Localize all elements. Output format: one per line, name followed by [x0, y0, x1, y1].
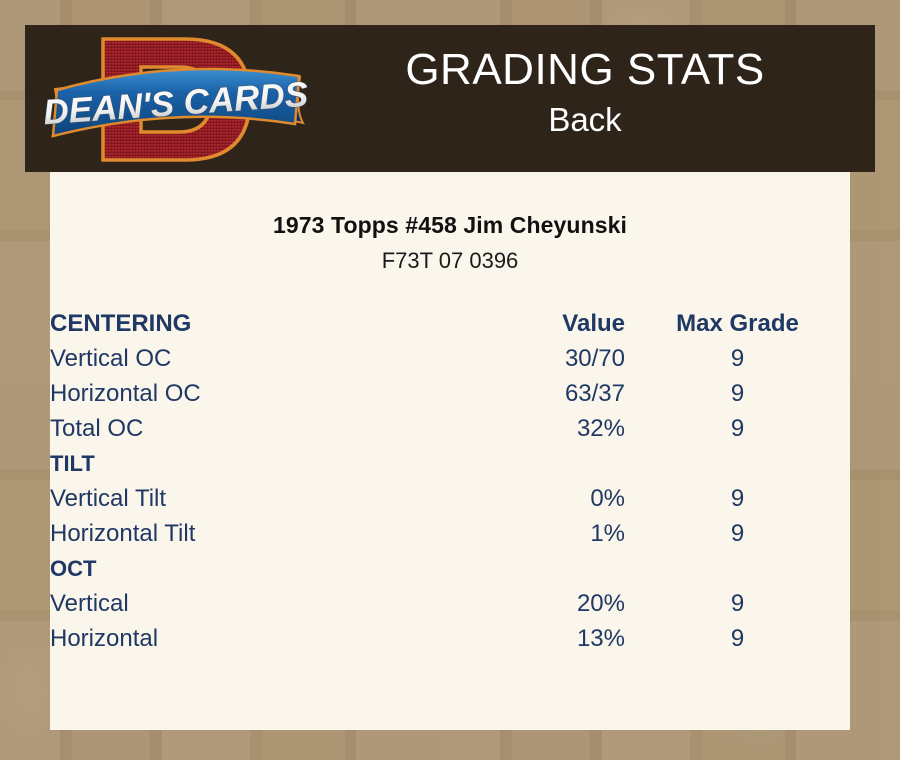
row-label: Vertical — [50, 586, 435, 621]
row-label: Horizontal — [50, 621, 435, 656]
section-value-spacer — [435, 551, 625, 586]
row-label: Total OC — [50, 411, 435, 446]
row-label: Horizontal OC — [50, 376, 435, 411]
grading-stats-body: CENTERING Value Max Grade Vertical OC 30… — [50, 306, 850, 656]
row-grade: 9 — [625, 376, 850, 411]
grading-stats-table: CENTERING Value Max Grade Vertical OC 30… — [50, 306, 850, 656]
table-row: Total OC 32% 9 — [50, 411, 850, 446]
row-grade: 9 — [625, 411, 850, 446]
row-grade: 9 — [625, 516, 850, 551]
table-row: Horizontal OC 63/37 9 — [50, 376, 850, 411]
deans-cards-logo[interactable]: DEAN'S CARDS — [45, 27, 310, 172]
row-grade: 9 — [625, 481, 850, 516]
page-subtitle: Back — [315, 99, 855, 141]
row-value: 1% — [435, 516, 625, 551]
row-value: 63/37 — [435, 376, 625, 411]
section-value-spacer — [435, 446, 625, 481]
section-header-oct: OCT — [50, 551, 850, 586]
row-grade: 9 — [625, 586, 850, 621]
card-serial-number: F73T 07 0396 — [50, 248, 850, 274]
card-title: 1973 Topps #458 Jim Cheyunski — [50, 212, 850, 239]
deans-cards-logo-icon: DEAN'S CARDS — [45, 27, 310, 172]
header-titles: GRADING STATS Back — [315, 43, 855, 141]
header-bar: DEAN'S CARDS GRADING STATS Back — [25, 25, 875, 172]
table-row: Vertical Tilt 0% 9 — [50, 481, 850, 516]
table-row: Horizontal Tilt 1% 9 — [50, 516, 850, 551]
section-label: TILT — [50, 446, 435, 481]
row-value: 0% — [435, 481, 625, 516]
row-value: 13% — [435, 621, 625, 656]
section-grade-spacer — [625, 446, 850, 481]
row-grade: 9 — [625, 341, 850, 376]
page-title: GRADING STATS — [315, 43, 855, 97]
section-header-tilt: TILT — [50, 446, 850, 481]
table-row: Horizontal 13% 9 — [50, 621, 850, 656]
row-value: 30/70 — [435, 341, 625, 376]
table-header-row: CENTERING Value Max Grade — [50, 306, 850, 341]
content-panel: 1973 Topps #458 Jim Cheyunski F73T 07 03… — [50, 172, 850, 730]
row-label: Vertical OC — [50, 341, 435, 376]
table-row: Vertical OC 30/70 9 — [50, 341, 850, 376]
table-row: Vertical 20% 9 — [50, 586, 850, 621]
section-grade-spacer — [625, 551, 850, 586]
row-grade: 9 — [625, 621, 850, 656]
column-header-value: Value — [435, 306, 625, 341]
column-header-max-grade: Max Grade — [625, 306, 850, 341]
row-value: 32% — [435, 411, 625, 446]
row-label: Horizontal Tilt — [50, 516, 435, 551]
row-value: 20% — [435, 586, 625, 621]
section-label: OCT — [50, 551, 435, 586]
row-label: Vertical Tilt — [50, 481, 435, 516]
column-header-centering: CENTERING — [50, 306, 435, 341]
